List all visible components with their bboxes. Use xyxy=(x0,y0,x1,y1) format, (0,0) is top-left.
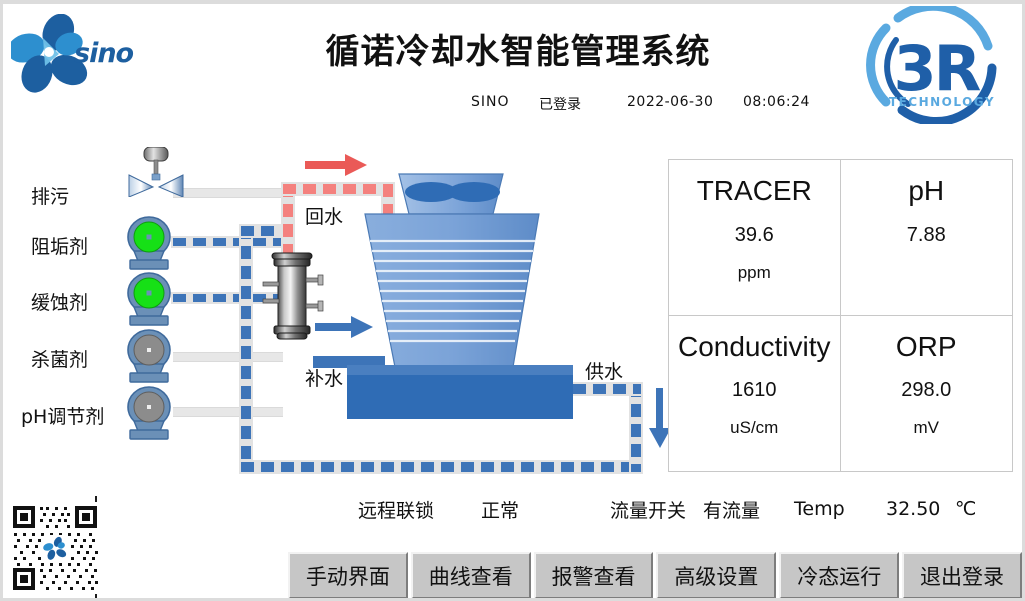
header: sino 循诺冷却水智能管理系统 SINO 已登录 2022-06-30 08:… xyxy=(3,4,1022,129)
heat-exchanger[interactable] xyxy=(261,252,325,340)
chem-label-biocide: 杀菌剂 xyxy=(31,345,88,372)
readings-panel: TRACER 39.6 ppm pH 7.88 Conductivity 161… xyxy=(668,159,1013,472)
reading-value: 7.88 xyxy=(907,224,946,247)
reading-unit: ppm xyxy=(738,263,771,283)
alarm-view-button[interactable]: 报警查看 xyxy=(534,552,654,599)
status-value-flowswitch: 有流量 xyxy=(703,496,760,523)
reading-unit: uS/cm xyxy=(730,418,778,438)
reading-name: ORP xyxy=(896,330,957,364)
cooling-tower[interactable] xyxy=(343,169,583,424)
reading-name: pH xyxy=(908,174,944,208)
chem-label-blowdown: 排污 xyxy=(31,182,69,209)
status-row: 远程联锁 正常 流量开关 有流量 Temp 32.50 ℃ xyxy=(358,496,1018,526)
pipe-flow-loop-left xyxy=(241,226,251,470)
header-meta: SINO 已登录 2022-06-30 08:06:24 xyxy=(423,94,883,116)
svg-text:sino: sino xyxy=(74,38,134,69)
pipe-flow-supply xyxy=(573,384,641,394)
status-value-temperature: 32.50 xyxy=(886,498,940,520)
reading-unit: mV xyxy=(914,418,940,438)
advanced-settings-button[interactable]: 高级设置 xyxy=(656,552,776,599)
pipe-flow-loop-bottom xyxy=(241,462,641,472)
reading-conductivity[interactable]: Conductivity 1610 uS/cm xyxy=(669,316,841,472)
status-label-interlock: 远程联锁 xyxy=(358,496,434,523)
reading-ph[interactable]: pH 7.88 xyxy=(841,160,1013,316)
status-value-interlock: 正常 xyxy=(481,496,519,523)
system-date: 2022-06-30 xyxy=(627,94,713,110)
system-time: 08:06:24 xyxy=(743,94,810,110)
pump-ph-adjuster[interactable] xyxy=(122,385,176,441)
logout-button[interactable]: 退出登录 xyxy=(902,552,1022,599)
pipe-blowdown xyxy=(173,188,283,198)
pipe-flow-scale-inhibitor xyxy=(173,238,284,246)
status-unit-temperature: ℃ xyxy=(955,498,976,520)
curve-view-button[interactable]: 曲线查看 xyxy=(411,552,531,599)
reading-value: 1610 xyxy=(732,379,777,402)
3r-technology-logo: 3R TECHNOLOGY xyxy=(856,6,1016,124)
button-bar: 手动界面 曲线查看 报警查看 高级设置 冷态运行 退出登录 xyxy=(288,552,1022,599)
chem-label-ph-adjuster: pH调节剂 xyxy=(21,402,104,429)
label-supply-water: 供水 xyxy=(585,357,623,384)
pipe-biocide xyxy=(173,352,283,362)
pipe-ph-adjust xyxy=(173,407,283,417)
pump-scale-inhibitor[interactable] xyxy=(122,215,176,271)
reading-value: 39.6 xyxy=(735,224,774,247)
reading-name: Conductivity xyxy=(678,330,831,364)
reading-name: TRACER xyxy=(697,174,812,208)
manual-interface-button[interactable]: 手动界面 xyxy=(288,552,408,599)
blowdown-valve[interactable] xyxy=(125,147,187,197)
cold-start-run-button[interactable]: 冷态运行 xyxy=(779,552,899,599)
page-title: 循诺冷却水智能管理系统 xyxy=(278,24,758,73)
chem-label-scale-inhibitor: 阻垢剂 xyxy=(31,232,88,259)
chem-label-corrosion-inhibitor: 缓蚀剂 xyxy=(31,288,88,315)
label-makeup-water: 补水 xyxy=(305,364,343,391)
login-status: 已登录 xyxy=(539,94,581,114)
label-return-water: 回水 xyxy=(305,202,343,229)
status-label-temperature: Temp xyxy=(794,498,845,520)
reading-value: 298.0 xyxy=(901,379,951,402)
pump-biocide[interactable] xyxy=(122,328,176,384)
reading-tracer[interactable]: TRACER 39.6 ppm xyxy=(669,160,841,316)
hmi-screen: sino 循诺冷却水智能管理系统 SINO 已登录 2022-06-30 08:… xyxy=(0,0,1025,601)
sino-logo: sino xyxy=(11,14,146,94)
reading-orp[interactable]: ORP 298.0 mV xyxy=(841,316,1013,472)
status-label-flowswitch: 流量开关 xyxy=(610,496,686,523)
pump-corrosion-inhibitor[interactable] xyxy=(122,271,176,327)
login-user: SINO xyxy=(471,94,510,110)
pipe-flow-supply-riser xyxy=(631,384,641,472)
svg-text:TECHNOLOGY: TECHNOLOGY xyxy=(889,95,995,109)
qr-code xyxy=(9,502,101,594)
